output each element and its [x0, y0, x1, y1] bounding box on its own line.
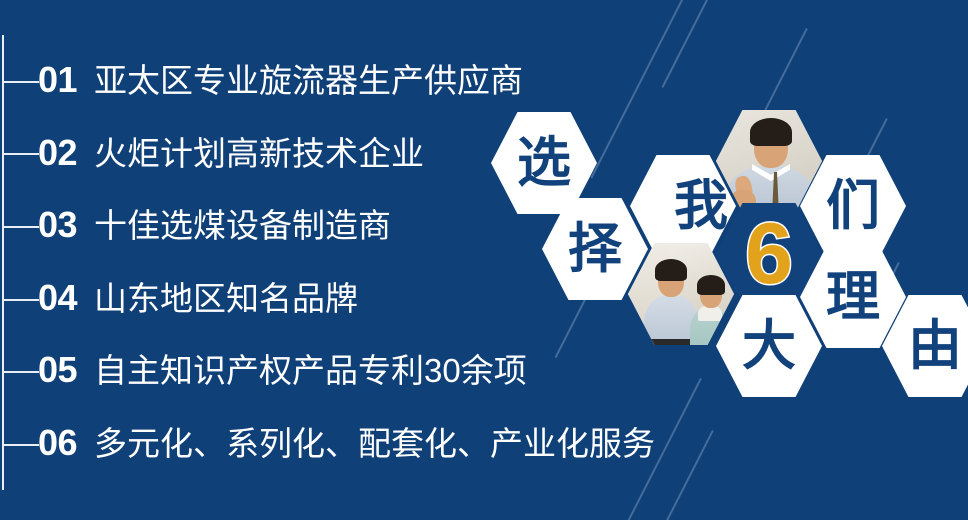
- list-item-text: 火炬计划高新技术企业: [94, 137, 424, 170]
- hexagon-glyph: 选: [517, 136, 571, 190]
- list-item-02: 02 火炬计划高新技术企业: [38, 135, 424, 171]
- hexagon-photo-team: [628, 243, 734, 345]
- list-item-number: 04: [38, 280, 77, 316]
- hexagon-glyph: 我: [674, 179, 728, 233]
- list-item-05: 05 自主知识产权产品专利30余项: [38, 352, 527, 388]
- list-item-03: 03 十佳选煤设备制造商: [38, 207, 391, 243]
- diagonal-line-7: [662, 430, 713, 520]
- list-tick-3: [3, 226, 39, 228]
- list-item-number: 03: [38, 207, 77, 243]
- list-item-text: 多元化、系列化、配套化、产业化服务: [94, 427, 655, 460]
- hexagon-glyph: 大: [742, 319, 796, 373]
- list-tick-6: [3, 444, 39, 446]
- list-tick-5: [3, 371, 39, 373]
- list-item-number: 06: [38, 425, 77, 461]
- hexagon-da: 大: [716, 295, 822, 397]
- list-item-04: 04 山东地区知名品牌: [38, 280, 358, 316]
- list-item-01: 01 亚太区专业旋流器生产供应商: [38, 62, 523, 98]
- team-photo: [628, 243, 734, 345]
- list-tick-2: [3, 153, 39, 155]
- list-item-number: 01: [38, 62, 77, 98]
- left-vertical-rule: [2, 35, 4, 490]
- hexagon-glyph: 理: [826, 270, 880, 324]
- hexagon-glyph: 由: [908, 319, 962, 373]
- list-item-text: 自主知识产权产品专利30余项: [94, 354, 527, 387]
- hexagon-wo: 我: [630, 155, 736, 257]
- list-item-text: 山东地区知名品牌: [94, 282, 358, 315]
- promo-banner: 01 亚太区专业旋流器生产供应商 02 火炬计划高新技术企业 03 十佳选煤设备…: [0, 0, 968, 520]
- diagonal-line-2: [662, 0, 718, 88]
- list-tick-1: [3, 81, 39, 83]
- list-item-number: 05: [38, 352, 77, 388]
- hexagon-glyph: 择: [568, 222, 622, 276]
- list-item-text: 十佳选煤设备制造商: [94, 209, 391, 242]
- list-item-text: 亚太区专业旋流器生产供应商: [94, 64, 523, 97]
- diagonal-line-3: [763, 28, 807, 113]
- list-tick-4: [3, 299, 39, 301]
- hexagon-count-6: 6: [745, 211, 793, 297]
- list-item-06: 06 多元化、系列化、配套化、产业化服务: [38, 425, 655, 461]
- hexagon-glyph: 们: [826, 179, 880, 233]
- diagonal-line-1: [590, 0, 689, 178]
- list-item-number: 02: [38, 135, 77, 171]
